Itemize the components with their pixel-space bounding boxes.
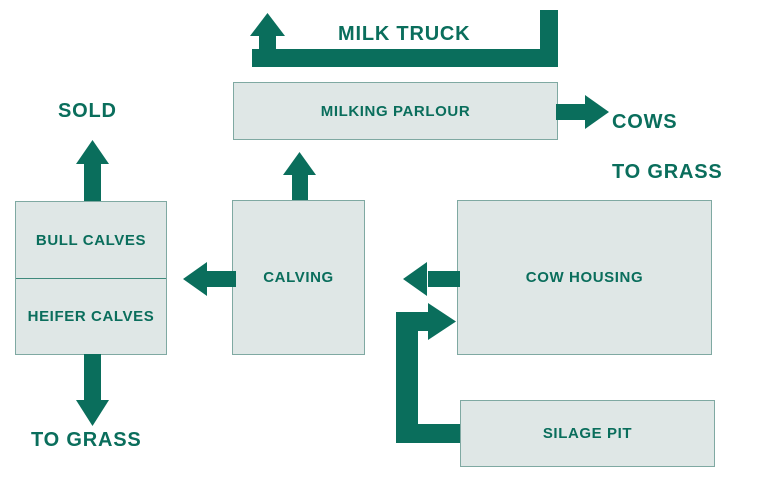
box-calving-label: CALVING [263, 269, 334, 286]
label-to-grass: TO GRASS [31, 428, 142, 453]
box-heifer-calves-label: HEIFER CALVES [28, 308, 155, 325]
flow-diagram-canvas: MILK TRUCK MILKING PARLOUR COWS TO GRASS… [0, 0, 768, 484]
label-cows-to-grass-line2: TO GRASS [612, 160, 723, 185]
box-milking-parlour[interactable]: MILKING PARLOUR [233, 82, 558, 140]
silage-elbow-vertical-run [396, 312, 418, 443]
sold-arrowhead [76, 140, 109, 164]
arrow-parlour-to-cows-to-grass [556, 95, 612, 129]
box-silage-pit-label: SILAGE PIT [543, 425, 632, 442]
silage-elbow-top-run [396, 312, 432, 331]
box-silage-pit[interactable]: SILAGE PIT [460, 400, 715, 467]
box-bull-calves-label: BULL CALVES [36, 232, 146, 249]
to-grass-arrowhead [76, 400, 109, 426]
box-milking-parlour-label: MILKING PARLOUR [321, 103, 471, 120]
sold-shaft [84, 161, 101, 204]
cows-to-grass-shaft [556, 104, 588, 120]
calving-to-calves-shaft [204, 271, 236, 287]
arrow-heifer-calves-to-grass [72, 354, 114, 428]
to-grass-shaft [84, 354, 101, 401]
calving-to-calves-arrowhead [183, 262, 207, 296]
box-cow-housing-label: COW HOUSING [526, 269, 643, 286]
label-milk-truck: MILK TRUCK [338, 22, 470, 47]
arrow-calving-to-calves [182, 262, 236, 296]
arrow-silage-to-cow-housing [390, 300, 470, 450]
calving-to-parlour-shaft [292, 172, 308, 202]
arrow-bull-calves-to-sold [72, 138, 114, 204]
arrow-cow-housing-to-calving [402, 262, 460, 296]
milk-truck-horizontal-bar [252, 49, 558, 67]
label-sold: SOLD [58, 99, 117, 124]
cow-housing-to-calving-arrowhead [403, 262, 427, 296]
box-heifer-calves[interactable]: HEIFER CALVES [16, 278, 166, 354]
milk-truck-up-shaft [259, 34, 276, 67]
arrow-calving-to-parlour [280, 150, 320, 202]
milk-truck-up-arrowhead [250, 13, 285, 36]
box-calves-stack[interactable]: BULL CALVES HEIFER CALVES [15, 201, 167, 355]
cow-housing-to-calving-shaft [428, 271, 460, 287]
box-cow-housing[interactable]: COW HOUSING [457, 200, 712, 355]
calving-to-parlour-arrowhead [283, 152, 316, 175]
label-cows-to-grass: COWS TO GRASS [612, 85, 723, 210]
silage-elbow-arrowhead [428, 303, 456, 340]
box-bull-calves[interactable]: BULL CALVES [16, 202, 166, 278]
box-calving[interactable]: CALVING [232, 200, 365, 355]
cows-to-grass-arrowhead [585, 95, 609, 129]
label-cows-to-grass-line1: COWS [612, 110, 723, 135]
